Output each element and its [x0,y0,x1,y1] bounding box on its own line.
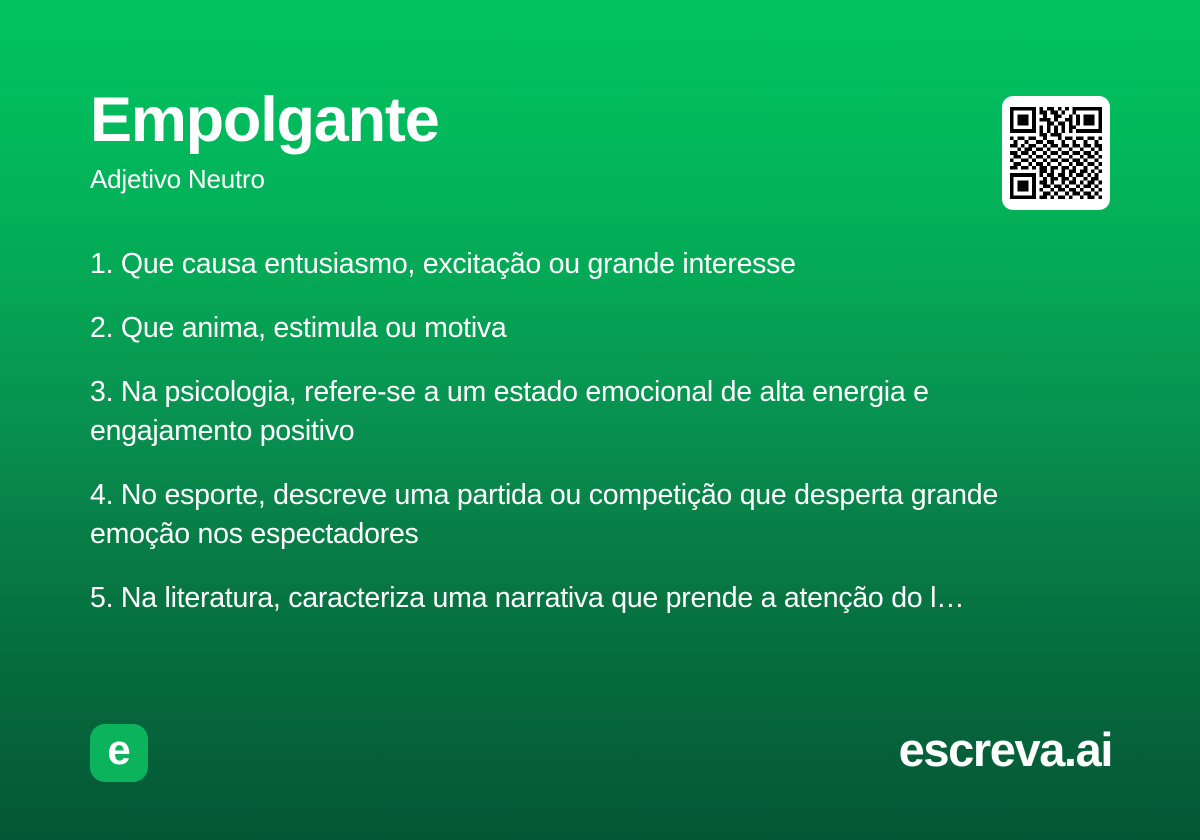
list-item: 2. Que anima, estimula ou motiva [90,309,1010,348]
list-item: 1. Que causa entusiasmo, excitação ou gr… [90,245,1010,284]
logo-letter: e [107,729,130,771]
page-title: Empolgante [90,88,950,152]
qr-code-matrix [1010,105,1102,201]
list-item: 5. Na literatura, caracteriza uma narrat… [90,579,1010,618]
list-item: 3. Na psicologia, refere-se a um estado … [90,373,1010,451]
escreva-logo-icon[interactable]: e [90,724,148,782]
list-item: 4. No esporte, descreve uma partida ou c… [90,476,1010,554]
word-definition-card: Empolgante Adjetivo Neutro 1. Que causa … [0,0,1200,840]
card-header: Empolgante Adjetivo Neutro [90,88,950,195]
brand-wordmark: escreva.ai [899,722,1112,778]
qr-code-icon[interactable] [1002,96,1110,210]
definition-list: 1. Que causa entusiasmo, excitação ou gr… [90,245,1010,618]
word-class-label: Adjetivo Neutro [90,164,950,195]
